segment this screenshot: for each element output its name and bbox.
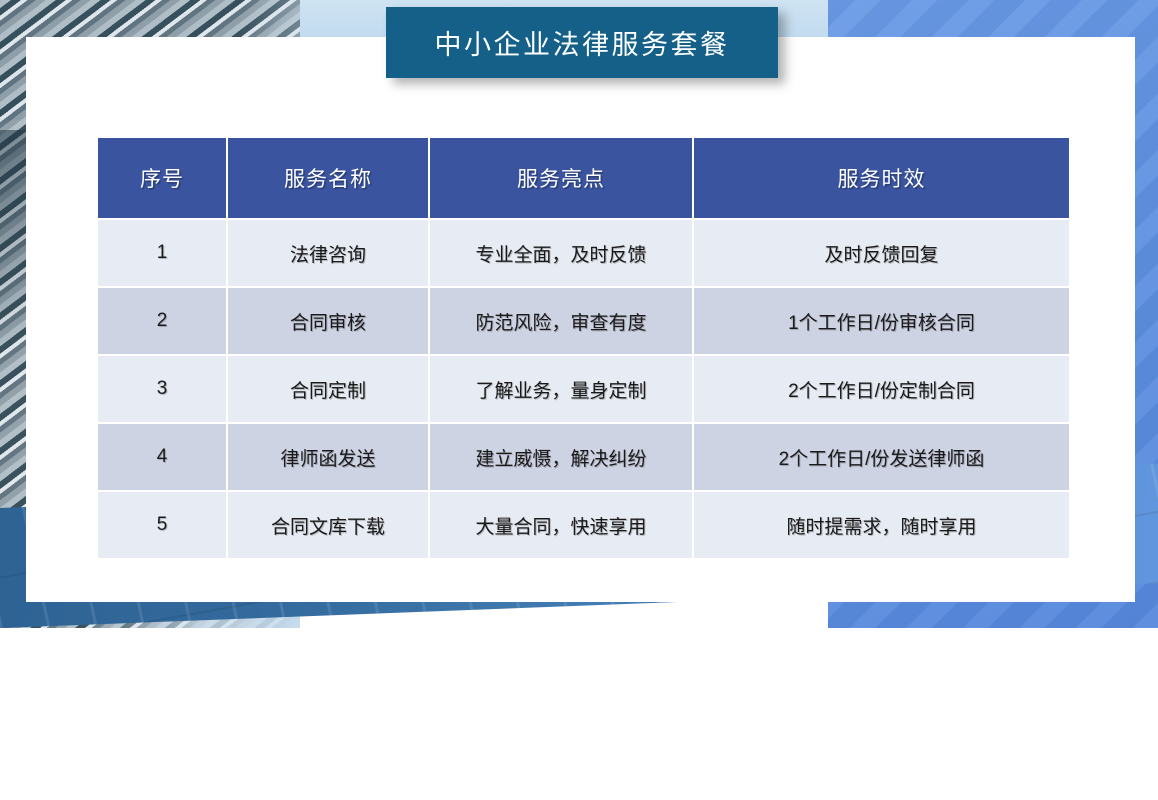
column-header-timing: 服务时效 (694, 138, 1069, 218)
cell-no: 2 (98, 288, 226, 354)
cell-no: 5 (98, 492, 226, 558)
cell-service-name: 律师函发送 (228, 424, 428, 490)
page-title: 中小企业法律服务套餐 (435, 23, 730, 62)
cell-service-timing: 随时提需求，随时享用 (694, 492, 1069, 558)
cell-no: 1 (98, 220, 226, 286)
cell-no: 4 (98, 424, 226, 490)
table-header-row: 序号 服务名称 服务亮点 服务时效 (98, 138, 1069, 218)
title-banner: 中小企业法律服务套餐 (386, 7, 778, 78)
cell-service-highlight: 防范风险，审查有度 (430, 288, 692, 354)
cell-service-name: 合同文库下载 (228, 492, 428, 558)
slide-canvas: 中小企业法律服务套餐 序号 服务名称 服务亮点 服务时效 1 法律咨询 专业全面… (0, 0, 1158, 628)
column-header-no: 序号 (98, 138, 226, 218)
column-header-name: 服务名称 (228, 138, 428, 218)
column-header-highlight: 服务亮点 (430, 138, 692, 218)
cell-service-highlight: 建立威慑，解决纠纷 (430, 424, 692, 490)
table-row: 5 合同文库下载 大量合同，快速享用 随时提需求，随时享用 (98, 492, 1069, 558)
cell-service-name: 法律咨询 (228, 220, 428, 286)
cell-service-timing: 2个工作日/份定制合同 (694, 356, 1069, 422)
table-row: 4 律师函发送 建立威慑，解决纠纷 2个工作日/份发送律师函 (98, 424, 1069, 490)
cell-service-timing: 及时反馈回复 (694, 220, 1069, 286)
cell-service-highlight: 了解业务，量身定制 (430, 356, 692, 422)
table-row: 2 合同审核 防范风险，审查有度 1个工作日/份审核合同 (98, 288, 1069, 354)
table-body: 1 法律咨询 专业全面，及时反馈 及时反馈回复 2 合同审核 防范风险，审查有度… (98, 220, 1069, 558)
cell-service-timing: 1个工作日/份审核合同 (694, 288, 1069, 354)
cell-service-highlight: 大量合同，快速享用 (430, 492, 692, 558)
cell-service-highlight: 专业全面，及时反馈 (430, 220, 692, 286)
table-header: 序号 服务名称 服务亮点 服务时效 (98, 138, 1069, 218)
table-row: 1 法律咨询 专业全面，及时反馈 及时反馈回复 (98, 220, 1069, 286)
cell-service-timing: 2个工作日/份发送律师函 (694, 424, 1069, 490)
cell-service-name: 合同定制 (228, 356, 428, 422)
cell-no: 3 (98, 356, 226, 422)
cell-service-name: 合同审核 (228, 288, 428, 354)
service-package-table: 序号 服务名称 服务亮点 服务时效 1 法律咨询 专业全面，及时反馈 及时反馈回… (96, 136, 1071, 560)
table-row: 3 合同定制 了解业务，量身定制 2个工作日/份定制合同 (98, 356, 1069, 422)
